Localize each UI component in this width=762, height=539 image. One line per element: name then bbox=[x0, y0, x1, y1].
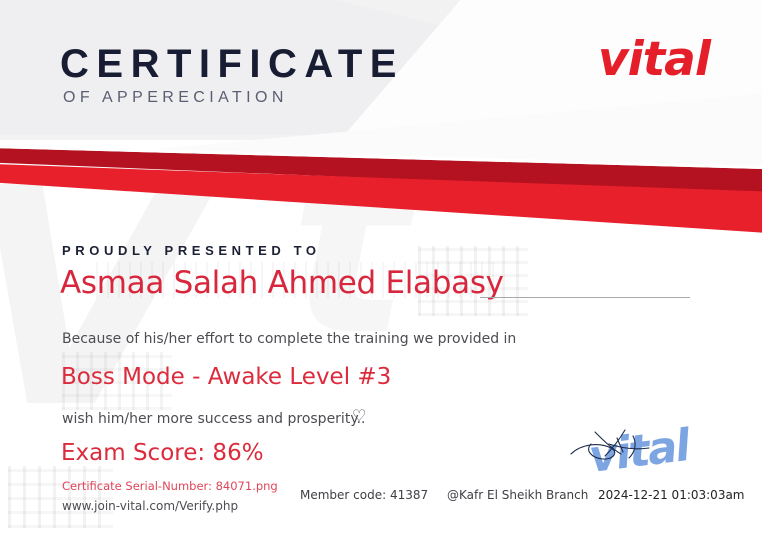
course-name: Boss Mode - Awake Level #3 bbox=[61, 364, 391, 390]
red-band-gap bbox=[0, 118, 762, 228]
wish-text: wish him/her more success and prosperity… bbox=[62, 411, 366, 427]
name-underline-rule bbox=[480, 297, 690, 298]
official-seal: vital bbox=[565, 418, 730, 494]
red-band-bright bbox=[0, 118, 762, 238]
exam-score: Exam Score: 86% bbox=[61, 440, 264, 466]
vital-logo: vital bbox=[598, 32, 710, 87]
page-subtitle: OF APPERECIATION bbox=[63, 89, 288, 107]
certificate-serial-number: Certificate Serial-Number: 84071.png bbox=[62, 479, 278, 493]
presented-to-label: PROUDLY PRESENTED TO bbox=[62, 243, 321, 258]
reason-text: Because of his/her effort to complete th… bbox=[62, 331, 516, 347]
signature-icon bbox=[565, 418, 730, 494]
member-code: Member code: 41387 bbox=[300, 488, 428, 502]
recipient-name: Asmaa Salah Ahmed Elabasy bbox=[60, 265, 504, 301]
texture-block-footer bbox=[8, 466, 113, 528]
red-band-dark bbox=[0, 118, 762, 228]
page-title: CERTIFICATE bbox=[60, 42, 404, 87]
certificate-document: V t CERTIFICATE OF APPERECIATION vital P… bbox=[0, 0, 762, 539]
heart-icon: ♡ bbox=[352, 409, 366, 425]
verify-url[interactable]: www.join-vital.com/Verify.php bbox=[62, 499, 238, 513]
